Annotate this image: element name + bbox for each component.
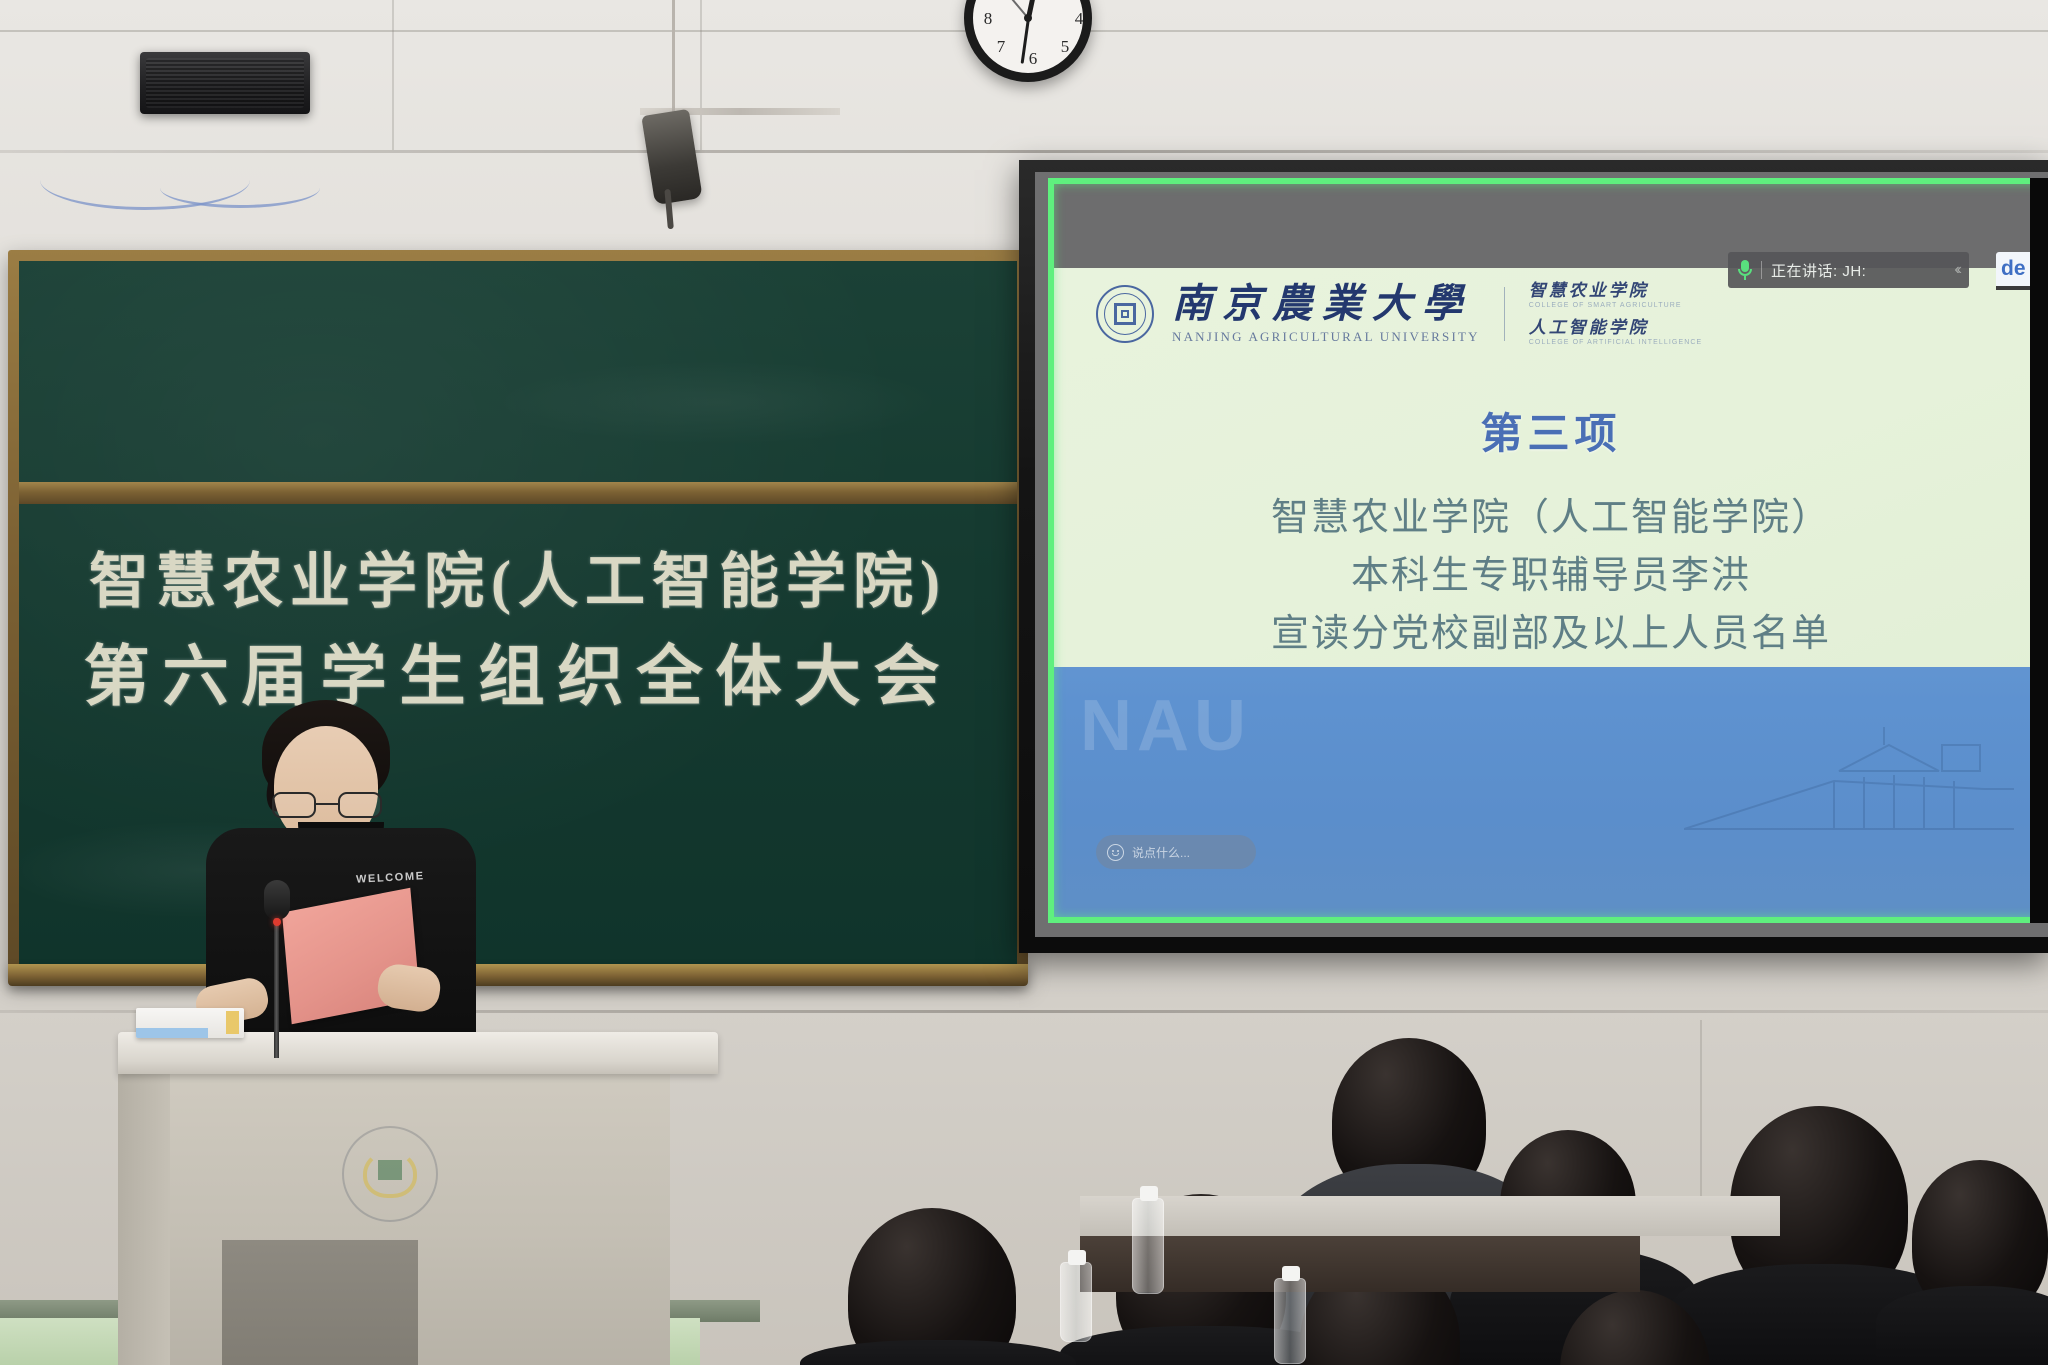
college-2: 人工智能学院 COLLEGE OF ARTIFICIAL INTELLIGENC… (1529, 319, 1703, 346)
chat-input-placeholder: 说点什么... (1132, 844, 1190, 861)
university-name-block: 南京農業大學 NANJING AGRICULTURAL UNIVERSITY (1172, 284, 1480, 345)
clock-center-pin (1024, 14, 1032, 22)
slide-body-line-2: 本科生专职辅导员李洪 (1054, 548, 2048, 606)
logo-divider (1504, 287, 1505, 341)
wall-joint-left (392, 0, 394, 150)
ceiling-mic-wire (672, 0, 675, 120)
chalk-tray (8, 964, 1028, 986)
blackboard-line-1: 智慧农业学院(人工智能学院) (19, 533, 1017, 620)
presentation-slide: 南京農業大學 NANJING AGRICULTURAL UNIVERSITY 智… (1054, 268, 2048, 917)
water-bottle (1132, 1198, 1164, 1294)
desk-microphone-head (264, 880, 290, 920)
slide-title: 第三项 (1054, 400, 2048, 461)
chevron-left-icon[interactable]: ‹‹ (1954, 261, 1959, 279)
slide-body-line-3: 宣读分党校副部及以上人员名单 (1054, 606, 2048, 664)
nau-watermark: NAU (1080, 685, 1251, 767)
screen-edge-mask (2030, 178, 2048, 923)
college-names: 智慧农业学院 COLLEGE OF SMART AGRICULTURE 人工智能… (1529, 282, 1703, 346)
podium-face (170, 1074, 670, 1365)
speaking-status-text: 正在讲话: JH: (1771, 260, 1866, 281)
lecture-hall-screenshot: 3 4 5 6 7 8 9 智慧农业学院(人工智能学院) 第六届学生组织全体大会… (0, 0, 2048, 1365)
blackboard-divider (19, 482, 1017, 504)
college-1-name-en: COLLEGE OF SMART AGRICULTURE (1529, 302, 1703, 309)
microphone-led-indicator (273, 918, 281, 926)
podium-top-surface (118, 1032, 718, 1074)
wall-joint-mid (700, 0, 702, 150)
chat-input[interactable]: 说点什么... (1096, 835, 1256, 869)
clock-numeral: 6 (1023, 49, 1043, 69)
college-1: 智慧农业学院 COLLEGE OF SMART AGRICULTURE (1529, 282, 1703, 309)
university-emblem-icon (342, 1126, 438, 1222)
blackboard-line-2: 第六届学生组织全体大会 (19, 623, 1017, 719)
slide-body: 智慧农业学院（人工智能学院） 本科生专职辅导员李洪 宣读分党校副部及以上人员名单 (1054, 490, 2048, 663)
college-1-name-cn: 智慧农业学院 (1529, 282, 1703, 299)
speaking-status-pill[interactable]: 正在讲话: JH: ‹‹ (1728, 252, 1969, 288)
slide-body-line-1: 智慧农业学院（人工智能学院） (1054, 490, 2048, 548)
divider (1761, 261, 1762, 279)
clock-numeral: 4 (1069, 9, 1089, 29)
clock-numeral: 5 (1055, 37, 1075, 57)
presenter-glasses-icon (272, 792, 382, 818)
smiley-icon[interactable] (1107, 844, 1124, 861)
wall-seam-upper (0, 150, 2048, 153)
college-2-name-en: COLLEGE OF ARTIFICIAL INTELLIGENCE (1529, 339, 1703, 346)
bench-surface (1080, 1196, 1780, 1236)
blackboard: 智慧农业学院(人工智能学院) 第六届学生组织全体大会 (8, 250, 1028, 980)
podium-panel (222, 1240, 418, 1365)
water-bottle (1274, 1278, 1306, 1364)
desk-microphone-stand (274, 918, 279, 1058)
university-name-cn: 南京農業大學 (1172, 284, 1480, 324)
college-2-name-cn: 人工智能学院 (1529, 319, 1703, 336)
water-bottle (1060, 1262, 1092, 1342)
browser-tab-label: de (2001, 257, 2026, 281)
blue-cable-2 (160, 168, 320, 208)
slide-header: 南京農業大學 NANJING AGRICULTURAL UNIVERSITY 智… (1096, 282, 1702, 346)
podium (118, 1032, 718, 1365)
audience-shoulders (1876, 1286, 2048, 1365)
wall-joint-right (1700, 1020, 1702, 1220)
microphone-icon (1738, 260, 1752, 280)
university-seal-icon (1096, 285, 1154, 343)
podium-side (118, 1074, 172, 1365)
bench-rail (1080, 1232, 1640, 1292)
wall-speaker (140, 52, 310, 114)
campus-building-illustration (1684, 711, 2014, 861)
clock-numeral: 8 (978, 9, 998, 29)
university-name-en: NANJING AGRICULTURAL UNIVERSITY (1172, 329, 1480, 345)
small-box-on-podium (136, 1008, 244, 1038)
blackboard-surface: 智慧农业学院(人工智能学院) 第六届学生组织全体大会 (19, 261, 1017, 969)
clock-numeral: 7 (991, 37, 1011, 57)
